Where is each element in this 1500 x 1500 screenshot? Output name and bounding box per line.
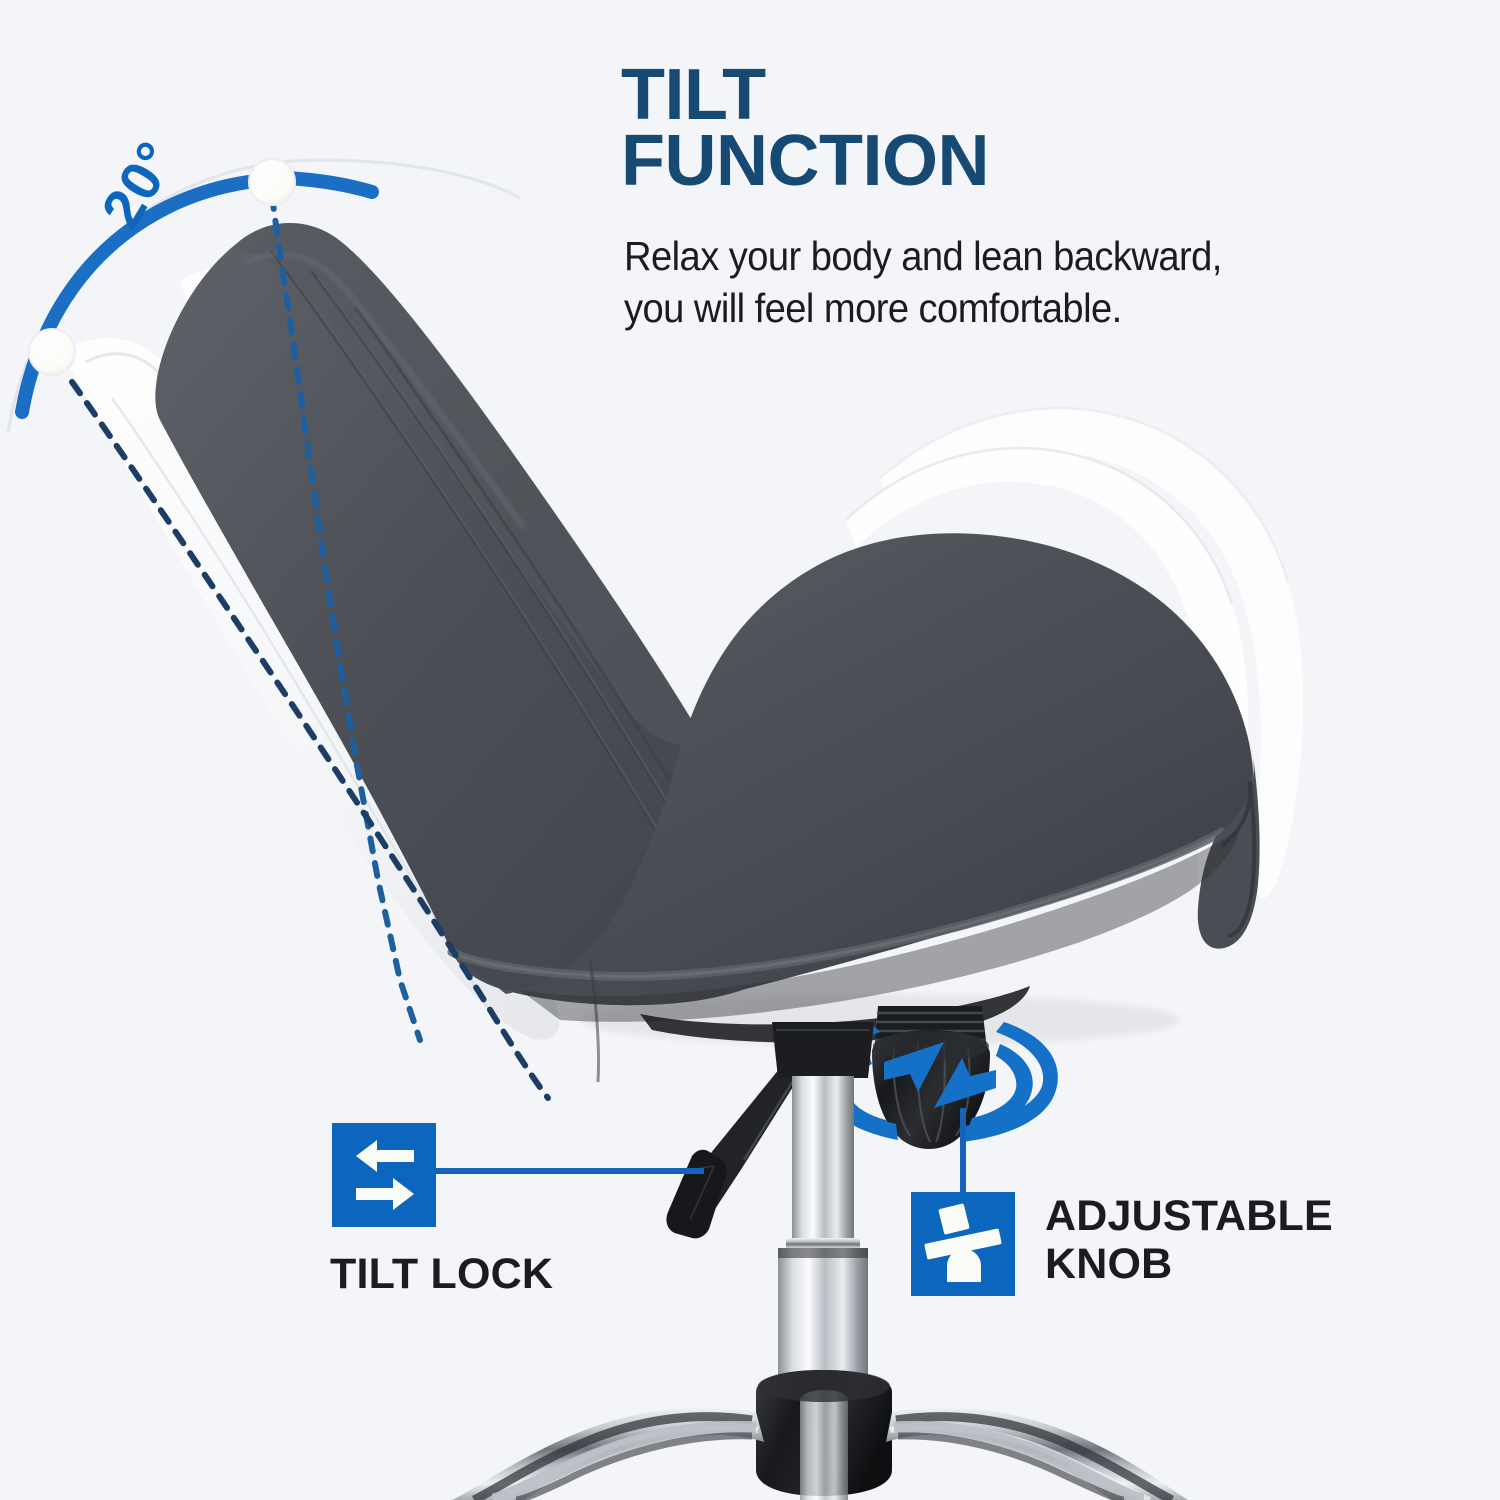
- tilting-balance-icon: [911, 1192, 1015, 1296]
- tilt-lock-badge: [332, 1123, 436, 1227]
- two-way-arrows-icon: [332, 1123, 436, 1227]
- headline-block: TILT FUNCTION: [621, 62, 1421, 194]
- chair-main-body: [155, 223, 1259, 1082]
- subtitle-line-1: Relax your body and lean backward,: [624, 230, 1405, 282]
- headline-line-2: FUNCTION: [621, 128, 1421, 194]
- tilt-lock-label: TILT LOCK: [330, 1250, 553, 1298]
- subtitle-block: Relax your body and lean backward, you w…: [624, 230, 1405, 335]
- adjustable-knob-badge: [911, 1192, 1015, 1296]
- adjustable-knob-label: ADJUSTABLE KNOB: [1045, 1192, 1333, 1288]
- headline-line-1: TILT: [621, 62, 1421, 128]
- infographic-canvas: TILT FUNCTION Relax your body and lean b…: [0, 0, 1500, 1500]
- subtitle-line-2: you will feel more comfortable.: [624, 282, 1405, 334]
